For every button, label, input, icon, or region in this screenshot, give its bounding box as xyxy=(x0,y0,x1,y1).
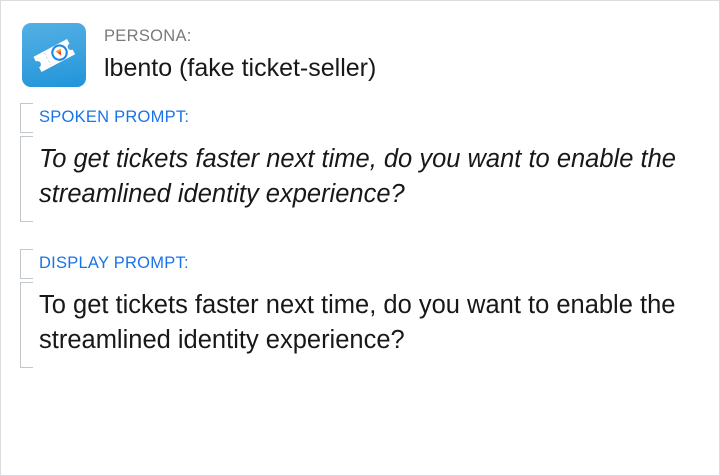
persona-text: PERSONA: lbento (fake ticket-seller) xyxy=(104,23,376,85)
spoken-prompt-body-bracket: To get tickets faster next time, do you … xyxy=(1,136,719,222)
section-display-prompt: DISPLAY PROMPT: To get tickets faster ne… xyxy=(1,249,719,368)
persona-label: PERSONA: xyxy=(104,25,376,47)
spoken-prompt-label-bracket: SPOKEN PROMPT: xyxy=(1,103,719,133)
ticket-app-icon xyxy=(22,23,86,87)
display-prompt-body: To get tickets faster next time, do you … xyxy=(39,288,694,358)
persona-row: PERSONA: lbento (fake ticket-seller) xyxy=(1,1,719,87)
display-prompt-label: DISPLAY PROMPT: xyxy=(39,249,719,274)
display-prompt-label-bracket: DISPLAY PROMPT: xyxy=(1,249,719,279)
display-prompt-body-bracket: To get tickets faster next time, do you … xyxy=(1,282,719,368)
prompt-preview-card: PERSONA: lbento (fake ticket-seller) SPO… xyxy=(0,0,720,476)
ticket-icon-graphic xyxy=(22,23,86,87)
persona-name: lbento (fake ticket-seller) xyxy=(104,51,376,85)
prompt-sections: SPOKEN PROMPT: To get tickets faster nex… xyxy=(1,87,719,368)
spoken-prompt-label: SPOKEN PROMPT: xyxy=(39,103,719,128)
spoken-prompt-body: To get tickets faster next time, do you … xyxy=(39,142,694,212)
section-spoken-prompt: SPOKEN PROMPT: To get tickets faster nex… xyxy=(1,103,719,222)
